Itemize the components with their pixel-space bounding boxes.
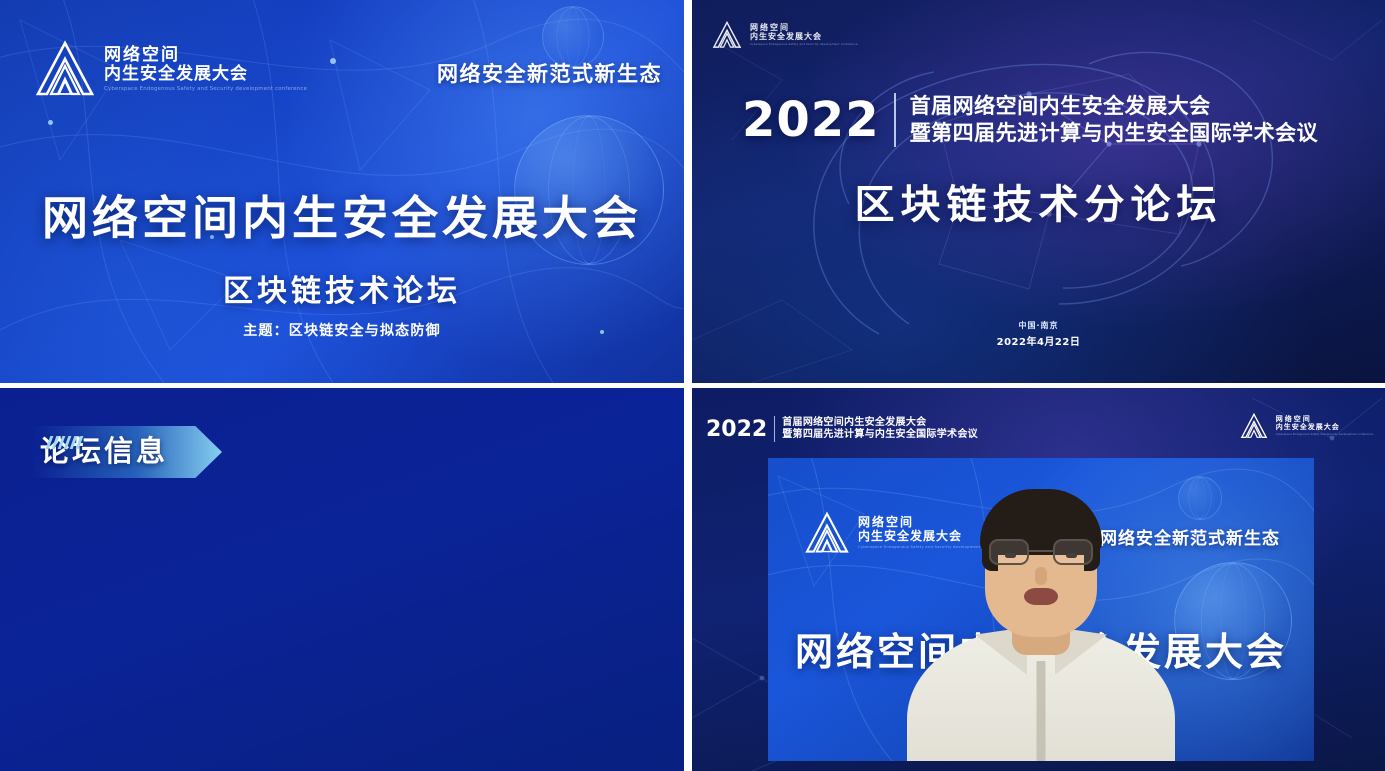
forum-headline-block: 2022 首届网络空间内生安全发展大会 暨第四届先进计算与内生安全国际学术会议 xyxy=(742,92,1355,148)
event-location: 中国·南京 xyxy=(692,320,1385,331)
logo-english: Cyberspace Endogenous Safety and Securit… xyxy=(1276,433,1373,436)
node-dot xyxy=(330,58,336,64)
eyeglasses xyxy=(989,539,1093,565)
conference-year: 2022 xyxy=(706,417,767,442)
slide-theme: 主题：区块链安全与拟态防御 xyxy=(0,320,684,340)
video-overlay-headline: 2022 首届网络空间内生安全发展大会 暨第四届先进计算与内生安全国际学术会议 xyxy=(706,416,978,442)
headline-line-1: 首届网络空间内生安全发展大会 xyxy=(910,93,1319,120)
horizontal-divider xyxy=(0,383,1385,388)
section-title: 论坛信息 xyxy=(40,428,168,470)
headline-line-2: 暨第四届先进计算与内生安全国际学术会议 xyxy=(910,120,1319,147)
panel-forum-title-slide[interactable]: 网络空间 内生安全发展大会 Cyberspace Endogenous Safe… xyxy=(692,0,1385,383)
event-date: 2022年4月22日 xyxy=(692,333,1385,348)
conference-logo: 网络空间 内生安全发展大会 Cyberspace Endogenous Safe… xyxy=(34,38,307,100)
panel-speaker-video[interactable]: 2022 首届网络空间内生安全发展大会 暨第四届先进计算与内生安全国际学术会议 … xyxy=(692,388,1385,771)
mountain-peak-icon xyxy=(34,38,96,100)
slide-sub-title: 区块链技术论坛 xyxy=(0,266,684,310)
mountain-peak-icon xyxy=(712,20,742,50)
forum-title: 区块链技术分论坛 xyxy=(692,172,1385,230)
video-conference-grid: 网络空间 内生安全发展大会 Cyberspace Endogenous Safe… xyxy=(0,0,1385,771)
logo-english: Cyberspace Endogenous Safety and Securit… xyxy=(750,43,858,46)
speaker-person xyxy=(891,511,1191,761)
panel-forum-information-slide[interactable]: 论坛信息 « 主办单位 » 紫金山实验室 « 承办单位 » xyxy=(0,388,684,771)
node-dot xyxy=(48,120,53,125)
logo-english: Cyberspace Endogenous Safety and Securit… xyxy=(104,86,307,93)
conference-logo: 网络空间 内生安全发展大会 Cyberspace Endogenous Safe… xyxy=(1240,412,1373,440)
vertical-rule xyxy=(774,416,775,442)
conference-logo: 网络空间 内生安全发展大会 Cyberspace Endogenous Safe… xyxy=(712,20,858,50)
headline-line-2: 暨第四届先进计算与内生安全国际学术会议 xyxy=(782,429,978,442)
logo-line-2: 内生安全发展大会 xyxy=(104,65,307,84)
section-banner: 论坛信息 xyxy=(22,422,232,492)
logo-line-2: 内生安全发展大会 xyxy=(750,33,858,42)
conference-year: 2022 xyxy=(742,92,880,148)
panel-conference-title-slide[interactable]: 网络空间 内生安全发展大会 Cyberspace Endogenous Safe… xyxy=(0,0,684,383)
slash-decoration xyxy=(48,436,81,449)
vertical-rule xyxy=(894,93,896,147)
mountain-peak-icon xyxy=(1240,412,1268,440)
headline-line-1: 首届网络空间内生安全发展大会 xyxy=(782,417,978,430)
mountain-peak-icon xyxy=(804,510,850,556)
slide-tagline: 网络安全新范式新生态 xyxy=(437,58,662,88)
speaker-video-feed[interactable]: 网络空间 内生安全发展大会 Cyberspace Endogenous Safe… xyxy=(768,458,1314,761)
slide-main-title: 网络空间内生安全发展大会 xyxy=(0,182,684,248)
logo-line-2: 内生安全发展大会 xyxy=(1276,424,1373,432)
logo-line-1: 网络空间 xyxy=(104,46,307,65)
